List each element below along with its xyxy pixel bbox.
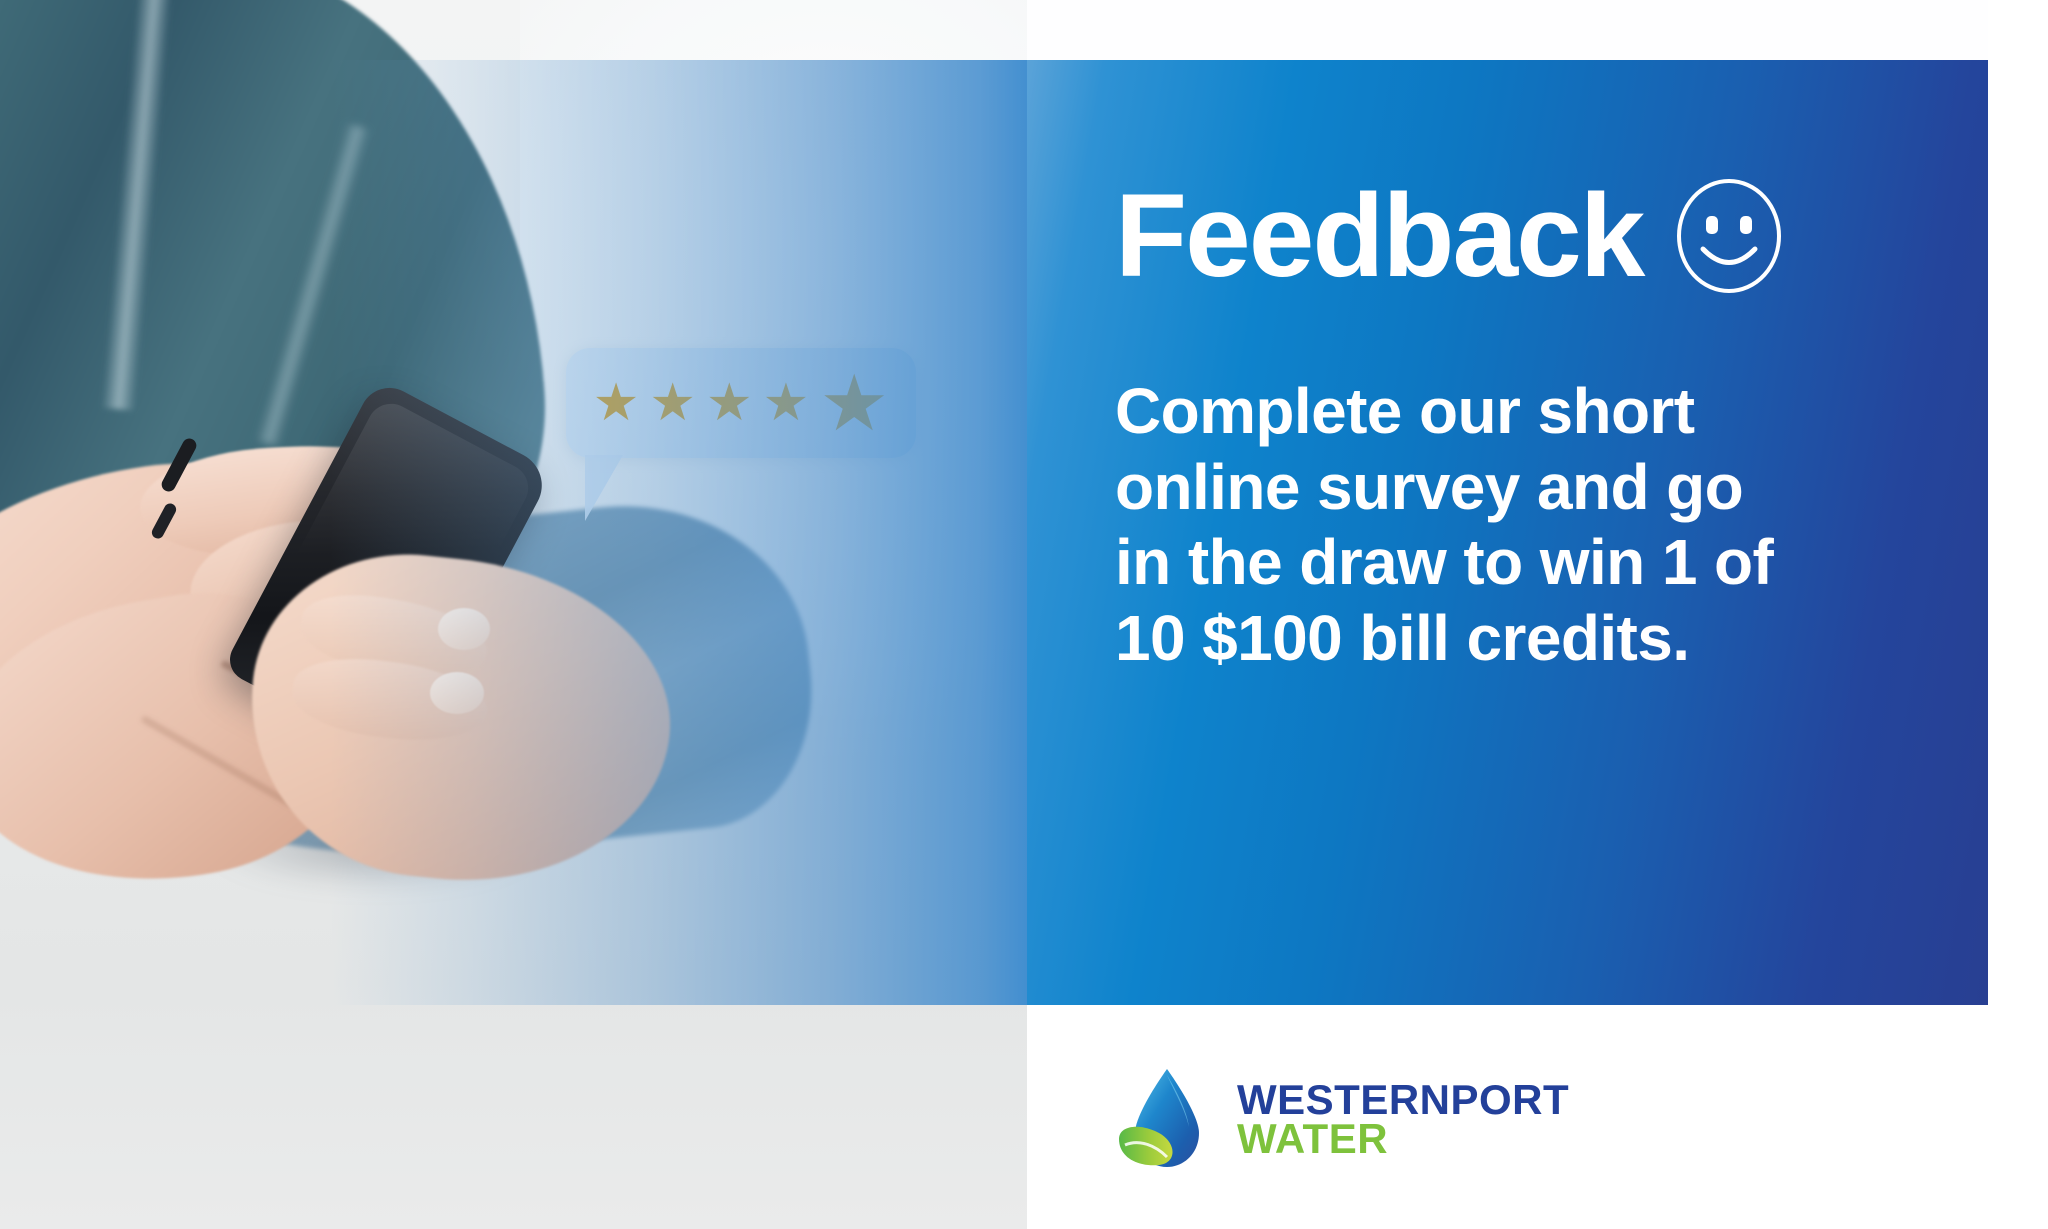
message-panel: Feedback Complete our short online surve… <box>1027 60 1988 1005</box>
panel-content: Feedback Complete our short online surve… <box>1115 176 1935 676</box>
star-rating: ★ ★ ★ ★ ★ <box>566 348 916 458</box>
rating-speech-bubble: ★ ★ ★ ★ ★ <box>566 348 916 458</box>
page-title: Feedback <box>1115 177 1643 295</box>
logo-word-westernport: WESTERNPORT <box>1237 1080 1569 1119</box>
fingernail <box>430 672 484 714</box>
logo-wordmark: WESTERNPORT WATER <box>1237 1080 1569 1159</box>
body-line: 10 $100 bill credits. <box>1115 601 1935 677</box>
body-copy: Complete our short online survey and go … <box>1115 374 1935 676</box>
logo-word-water: WATER <box>1237 1119 1569 1158</box>
top-white-margin <box>1027 0 2048 60</box>
speech-bubble-tail <box>585 455 623 521</box>
star-icon: ★ <box>706 377 753 429</box>
star-icon: ★ <box>593 377 640 429</box>
body-line: Complete our short <box>1115 374 1935 450</box>
brand-logo: WESTERNPORT WATER <box>1115 1065 1569 1173</box>
hero-photo: ★ ★ ★ ★ ★ <box>0 0 1027 1229</box>
star-icon: ★ <box>649 377 696 429</box>
feedback-promotional-banner: ★ ★ ★ ★ ★ Feedback Complete o <box>0 0 2048 1229</box>
star-icon: ★ <box>763 377 810 429</box>
smiley-face-icon <box>1673 176 1785 296</box>
body-line: online survey and go <box>1115 450 1935 526</box>
star-icon: ★ <box>819 364 889 442</box>
water-droplet-leaf-icon <box>1115 1065 1215 1173</box>
fingernail <box>438 608 490 650</box>
body-line: in the draw to win 1 of <box>1115 525 1935 601</box>
title-row: Feedback <box>1115 176 1935 296</box>
